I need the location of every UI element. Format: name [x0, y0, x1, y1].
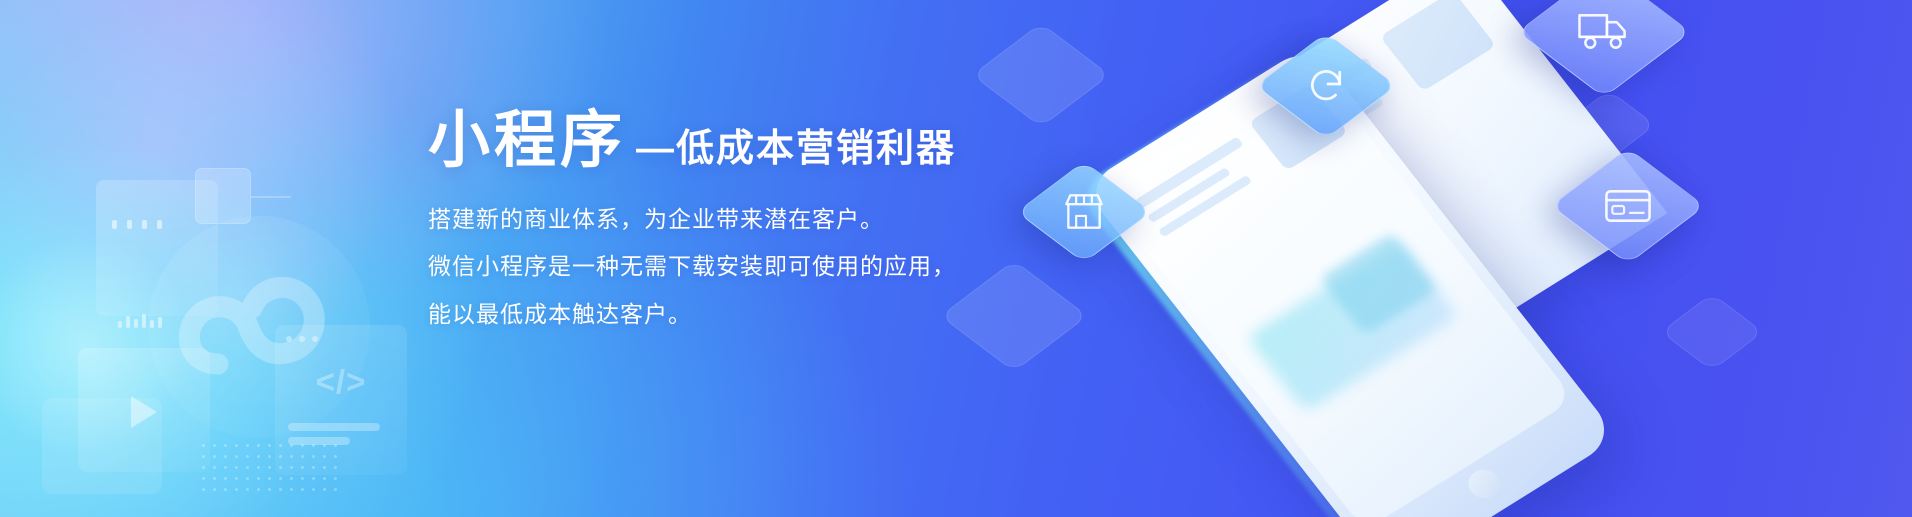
headline-main: 小程序 — [428, 108, 626, 173]
background-glow-white — [0, 230, 210, 460]
ghost-tile — [1660, 293, 1763, 371]
ghost-square — [195, 168, 251, 224]
home-button — [1462, 464, 1506, 504]
sheet-thumbnail — [1380, 0, 1496, 92]
description-line: 搭建新的商业体系，为企业带来潜在客户。 — [428, 203, 1048, 236]
background-glow-cyan — [0, 150, 360, 517]
code-line — [288, 437, 350, 445]
code-window-icon: </> — [275, 325, 407, 475]
mini-program-hero-banner: </> 小程序 —低成本营销利器 搭建新的商业体系，为企业带来潜在客户。 微信小… — [0, 0, 1912, 517]
description-line: 微信小程序是一种无需下载安装即可使用的应用， — [428, 250, 1048, 283]
dot-grid-pattern — [198, 440, 338, 492]
ghost-window-dots — [112, 220, 162, 229]
ghost-connector-line — [251, 196, 291, 198]
hero-illustration — [1020, 0, 1912, 517]
code-window-dots — [286, 336, 318, 342]
audio-wave-icon — [118, 312, 164, 328]
code-line — [288, 423, 380, 431]
background-glow-violet — [0, 0, 440, 380]
media-player-card — [78, 348, 210, 472]
headline-subtitle: —低成本营销利器 — [636, 117, 956, 172]
ghost-window-card — [96, 180, 218, 316]
play-icon — [131, 396, 157, 428]
mini-program-swirl-icon — [148, 216, 370, 438]
page-title: 小程序 —低成本营销利器 — [428, 108, 1048, 173]
code-glyph: </> — [275, 363, 407, 401]
ghost-rounded-square — [42, 398, 162, 494]
